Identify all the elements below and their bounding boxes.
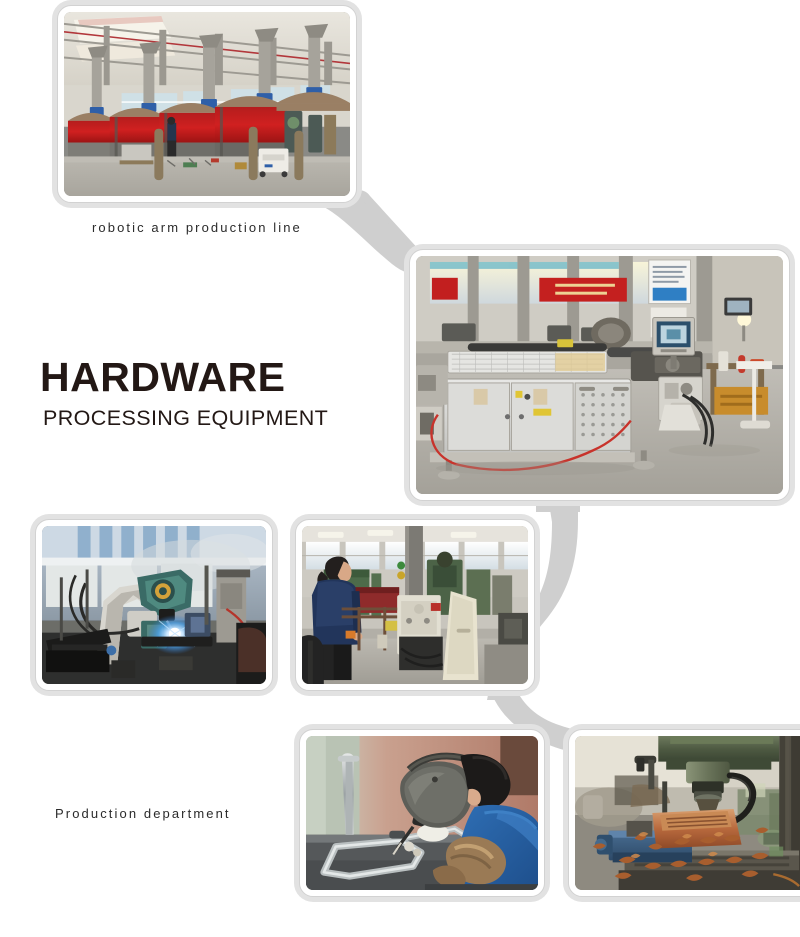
cnc-pipe-bending-machine-frame	[409, 249, 790, 501]
welder-with-mask-photo	[306, 736, 538, 890]
welding-robot-photo	[42, 526, 266, 684]
robotic-arm-production-line-photo	[64, 12, 350, 196]
cnc-pipe-bending-machine-photo	[416, 256, 783, 494]
milling-machine-photo	[575, 736, 800, 890]
welding-robot-frame	[35, 519, 273, 691]
robotic-arm-production-line-frame	[57, 5, 357, 203]
worker-at-machine-photo	[302, 526, 528, 684]
page-subtitle: PROCESSING EQUIPMENT	[43, 408, 328, 430]
worker-at-machine-frame	[295, 519, 535, 691]
headline-block: HARDWARE PROCESSING EQUIPMENT	[40, 357, 328, 430]
page-title: HARDWARE	[40, 357, 328, 398]
production-department-caption: Production department	[55, 806, 231, 821]
robotic-arm-production-line-caption: robotic arm production line	[92, 220, 302, 235]
welder-with-mask-frame	[299, 729, 545, 897]
milling-machine-frame	[568, 729, 800, 897]
hardware-processing-equipment-poster: HARDWARE PROCESSING EQUIPMENT	[0, 0, 800, 937]
